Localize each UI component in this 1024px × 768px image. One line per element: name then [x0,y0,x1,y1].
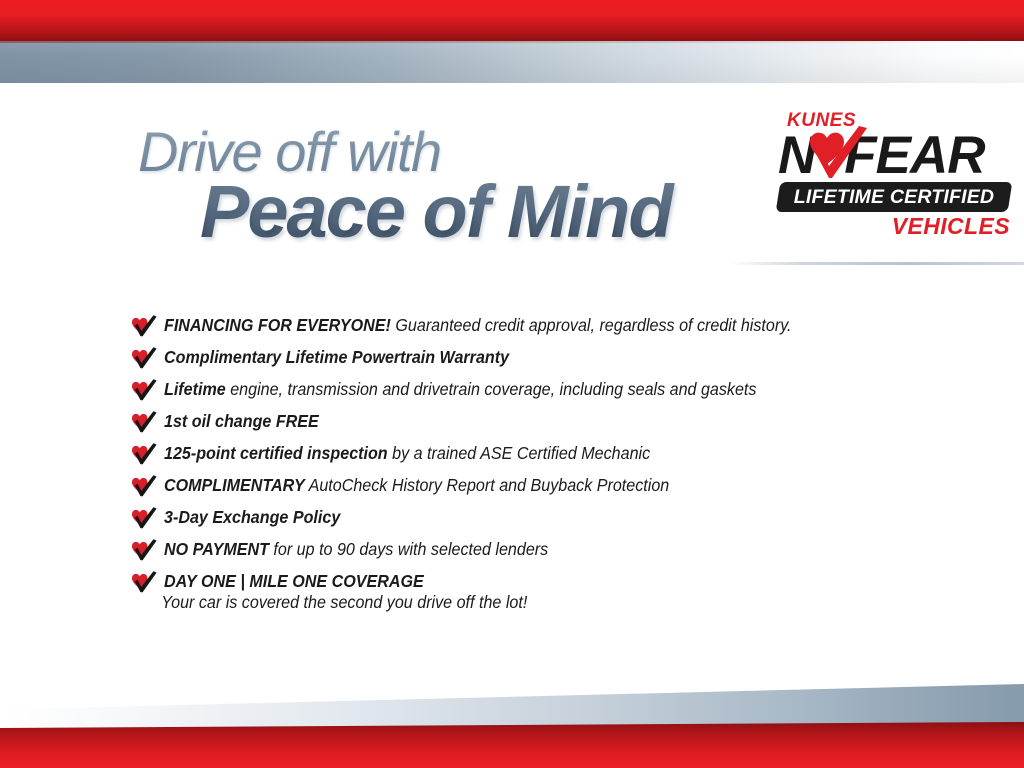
feature-item-text: Lifetime engine, transmission and drivet… [164,380,756,399]
feature-item-detail: by a trained ASE Certified Mechanic [388,443,651,463]
heart-check-icon [130,315,157,337]
heart-check-icon [130,347,157,369]
feature-item: NO PAYMENT for up to 90 days with select… [130,534,950,566]
feature-item: COMPLIMENTARY AutoCheck History Report a… [130,470,950,502]
heart-check-icon [130,475,157,497]
feature-item: FINANCING FOR EVERYONE! Guaranteed credi… [130,310,950,342]
heart-check-icon [130,539,157,561]
feature-item-emphasis: COMPLIMENTARY [164,475,305,495]
feature-item-text: Complimentary Lifetime Powertrain Warran… [164,348,509,367]
feature-item-text: 3-Day Exchange Policy [164,508,340,527]
headline-line-2: Peace of Mind [200,174,758,249]
heart-check-icon [130,379,157,401]
heart-check-icon [130,507,157,529]
feature-item-subtext: Your car is covered the second you drive… [130,592,884,613]
top-gray-band [0,41,1024,83]
feature-item-emphasis: Complimentary Lifetime Powertrain Warran… [164,347,509,367]
headline-block: Drive off with Peace of Mind [138,124,758,249]
feature-item-emphasis: 3-Day Exchange Policy [164,507,340,527]
feature-item-emphasis: Lifetime [164,379,226,399]
feature-item-detail: Guaranteed credit approval, regardless o… [391,315,792,335]
feature-item-detail: for up to 90 days with selected lenders [269,539,548,559]
feature-item-emphasis: 1st oil change FREE [164,411,319,431]
feature-item-emphasis: FINANCING FOR EVERYONE! [164,315,391,335]
bottom-red-band [0,722,1024,768]
feature-item: 3-Day Exchange Policy [130,502,950,534]
feature-item-emphasis: 125-point certified inspection [164,443,388,463]
feature-item-text: DAY ONE | MILE ONE COVERAGE [164,572,424,591]
logo-heart-check-icon [802,126,868,188]
heart-check-icon [130,571,157,593]
feature-item: 125-point certified inspection by a trai… [130,438,950,470]
feature-item-detail: AutoCheck History Report and Buyback Pro… [305,475,670,495]
heart-check-icon [130,411,157,433]
feature-item-text: 1st oil change FREE [164,412,319,431]
top-red-band [0,0,1024,41]
feature-item-text: COMPLIMENTARY AutoCheck History Report a… [164,476,669,495]
feature-item: Lifetime engine, transmission and drivet… [130,374,950,406]
feature-item-detail: engine, transmission and drivetrain cove… [226,379,757,399]
bottom-gray-band [0,684,1024,728]
feature-item-text: NO PAYMENT for up to 90 days with select… [164,540,548,559]
feature-item-text: FINANCING FOR EVERYONE! Guaranteed credi… [164,316,792,335]
feature-item-text: 125-point certified inspection by a trai… [164,444,650,463]
feature-item-emphasis: NO PAYMENT [164,539,269,559]
header-divider [730,262,1024,265]
feature-item: Complimentary Lifetime Powertrain Warran… [130,342,950,374]
advertisement-banner: Drive off with Peace of Mind KUNES NFEAR… [0,0,1024,768]
heart-check-icon [130,443,157,465]
logo-lifetime-certified-text: LIFETIME CERTIFIED [778,182,1010,212]
kunes-no-fear-logo: KUNES NFEAR LIFETIME CERTIFIED VEHICLES [778,110,1014,246]
feature-item: 1st oil change FREE [130,406,950,438]
feature-list: FINANCING FOR EVERYONE! Guaranteed credi… [130,310,950,613]
logo-vehicles-text: VEHICLES [892,213,1010,240]
feature-item-emphasis: DAY ONE | MILE ONE COVERAGE [164,571,424,591]
